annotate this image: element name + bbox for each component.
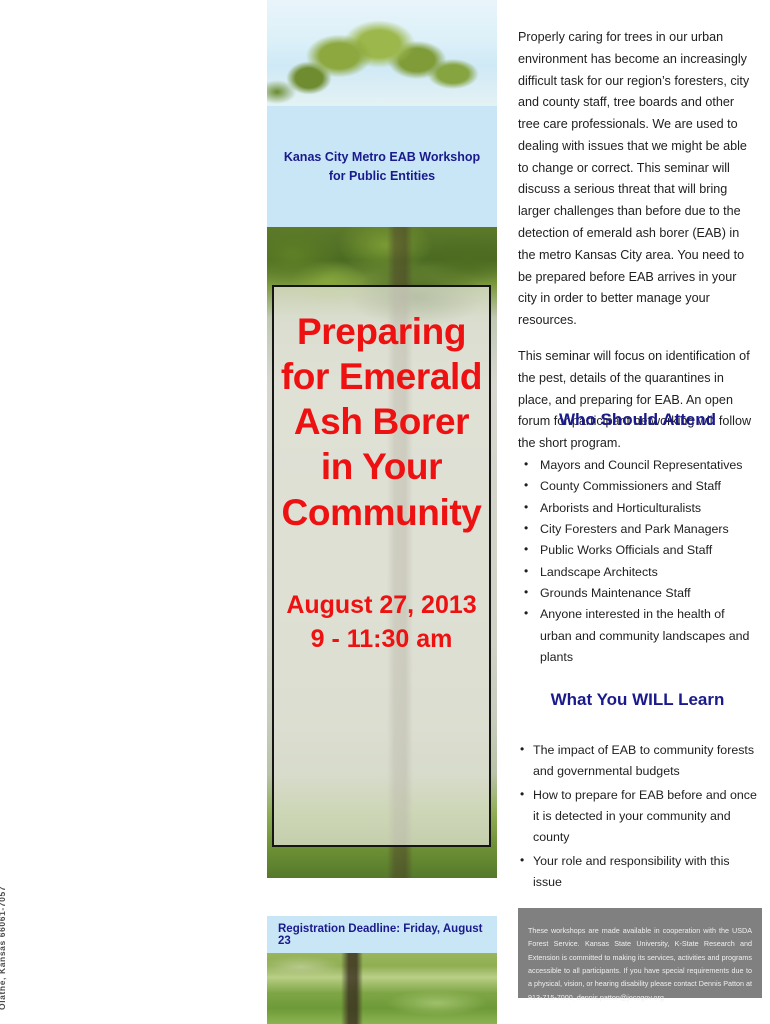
page-title-line-1: Preparing [297, 311, 466, 352]
right-column: Properly caring for trees in our urban e… [518, 0, 762, 1024]
intro-paragraph-1: Properly caring for trees in our urban e… [518, 27, 757, 332]
list-item: Public Works Officials and Staff [518, 540, 757, 561]
disclaimer-box: These workshops are made available in co… [518, 908, 762, 998]
tree-canopy-photo [267, 0, 497, 106]
page-title-line-3: Ash Borer [294, 401, 469, 442]
workshop-banner-text: Kanas City Metro EAB Workshop for Public… [276, 148, 488, 186]
kstate-address-line-2: Olathe, Kansas 66061-7057 [0, 886, 8, 1010]
main-title-panel: Preparing for Emerald Ash Borer in Your … [272, 285, 491, 847]
what-you-will-learn-heading: What You WILL Learn [518, 690, 757, 710]
page-title: Preparing for Emerald Ash Borer in Your … [281, 309, 482, 535]
list-item: Anyone interested in the health of urban… [518, 604, 757, 668]
park-lawn-bench-photo [267, 953, 497, 1024]
page-title-line-2: for Emerald [281, 356, 482, 397]
workshop-banner-line-1: Kanas City Metro EAB Workshop [284, 150, 480, 164]
left-sidebar: K-STATE Research and Extension Johnson C… [0, 0, 267, 1024]
list-item: Your role and responsibility with this i… [518, 851, 757, 894]
list-item: The impact of EAB to community forests a… [518, 740, 757, 783]
list-item: Landscape Architects [518, 562, 757, 583]
list-item: City Foresters and Park Managers [518, 519, 757, 540]
what-you-will-learn-list: The impact of EAB to community forests a… [518, 740, 757, 895]
workshop-title-banner: Kanas City Metro EAB Workshop for Public… [267, 106, 497, 227]
page-title-line-5: Community [282, 492, 482, 533]
intro-paragraph-2: This seminar will focus on identificatio… [518, 346, 757, 455]
kstate-branding-block: K-STATE Research and Extension Johnson C… [0, 770, 18, 1010]
who-should-attend-list: Mayors and Council Representatives Count… [518, 455, 757, 668]
registration-deadline-text: Registration Deadline: Friday, August 23 [267, 923, 497, 947]
workshop-banner-line-2: for Public Entities [329, 169, 435, 183]
disclaimer-text: These workshops are made available in co… [528, 924, 752, 1004]
list-item: Mayors and Council Representatives [518, 455, 757, 476]
intro-text-block: Properly caring for trees in our urban e… [518, 27, 757, 469]
who-should-attend-heading: Who Should Attend [518, 410, 757, 430]
list-item: Grounds Maintenance Staff [518, 583, 757, 604]
list-item: How to prepare for EAB before and once i… [518, 785, 757, 849]
event-date: August 27, 2013 [286, 589, 476, 622]
event-time: 9 - 11:30 am [311, 623, 453, 656]
center-column: Kanas City Metro EAB Workshop for Public… [267, 0, 497, 1024]
list-item: Arborists and Horticulturalists [518, 498, 757, 519]
list-item: County Commissioners and Staff [518, 476, 757, 497]
registration-deadline-banner: Registration Deadline: Friday, August 23 [267, 916, 497, 953]
page-title-line-4: in Your [321, 446, 442, 487]
